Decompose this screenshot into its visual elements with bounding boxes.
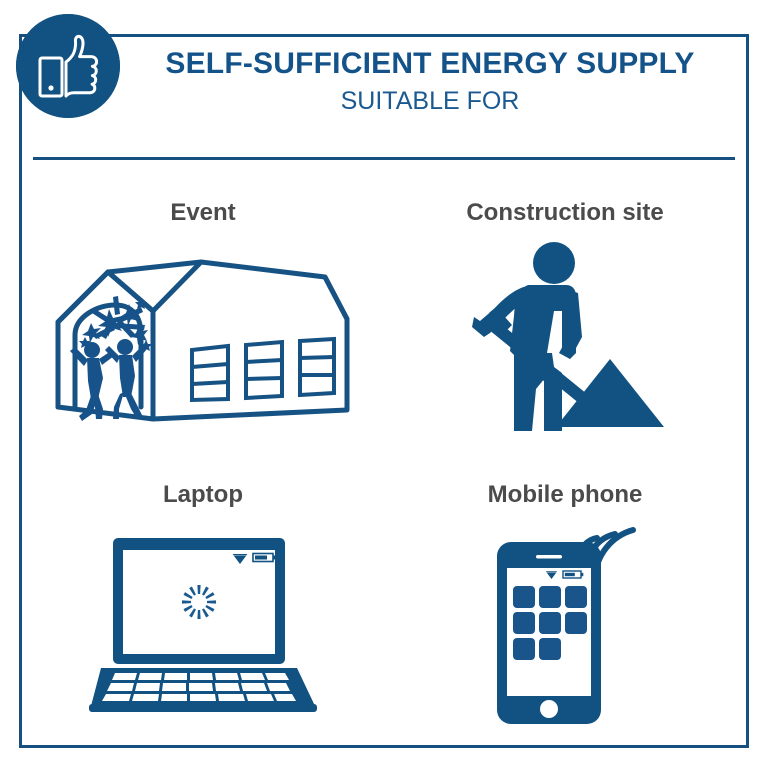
page-title: SELF-SUFFICIENT ENERGY SUPPLY: [120, 44, 740, 84]
laptop-icon: [89, 534, 317, 714]
page-subtitle: SUITABLE FOR: [120, 84, 740, 118]
use-case-art-mobile-phone: [384, 510, 746, 744]
earpiece-speaker: [536, 555, 562, 559]
header-divider: [33, 157, 735, 160]
mobile-phone-icon: [475, 520, 655, 730]
use-case-label-event: Event: [170, 198, 235, 228]
app-icon: [539, 612, 561, 634]
infographic-root: SELF-SUFFICIENT ENERGY SUPPLY SUITABLE F…: [0, 0, 768, 768]
app-icon: [513, 612, 535, 634]
party-tent-icon: [53, 247, 353, 432]
use-case-art-event: [22, 228, 384, 458]
thumbs-up-icon: [16, 14, 120, 118]
use-case-art-laptop: [22, 510, 384, 744]
use-case-mobile-phone: Mobile phone: [384, 458, 746, 744]
app-icon: [565, 586, 587, 608]
app-icon: [539, 638, 561, 660]
use-case-event: Event: [22, 172, 384, 458]
header: SELF-SUFFICIENT ENERGY SUPPLY SUITABLE F…: [120, 44, 740, 118]
thumbs-up-badge: [16, 14, 120, 118]
use-case-art-construction-site: [384, 228, 746, 458]
use-case-label-laptop: Laptop: [163, 480, 243, 510]
app-icon: [513, 638, 535, 660]
use-case-label-construction-site: Construction site: [466, 198, 663, 228]
home-button[interactable]: [540, 700, 558, 718]
app-icon: [539, 586, 561, 608]
use-case-construction-site: Construction site: [384, 172, 746, 458]
use-case-grid: Event: [22, 172, 746, 744]
use-case-label-mobile-phone: Mobile phone: [488, 480, 643, 510]
use-case-laptop: Laptop: [22, 458, 384, 744]
construction-worker-icon: [458, 241, 673, 437]
laptop-trackpad: [171, 712, 235, 714]
app-icon: [513, 586, 535, 608]
app-icon: [565, 612, 587, 634]
